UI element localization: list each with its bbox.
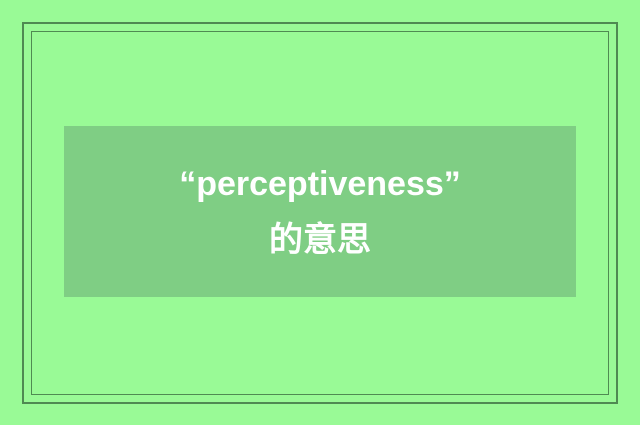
page-canvas: “perceptiveness” 的意思 [0, 0, 640, 425]
title-card: “perceptiveness” 的意思 [64, 126, 576, 297]
page-title: “perceptiveness” 的意思 [170, 156, 470, 268]
